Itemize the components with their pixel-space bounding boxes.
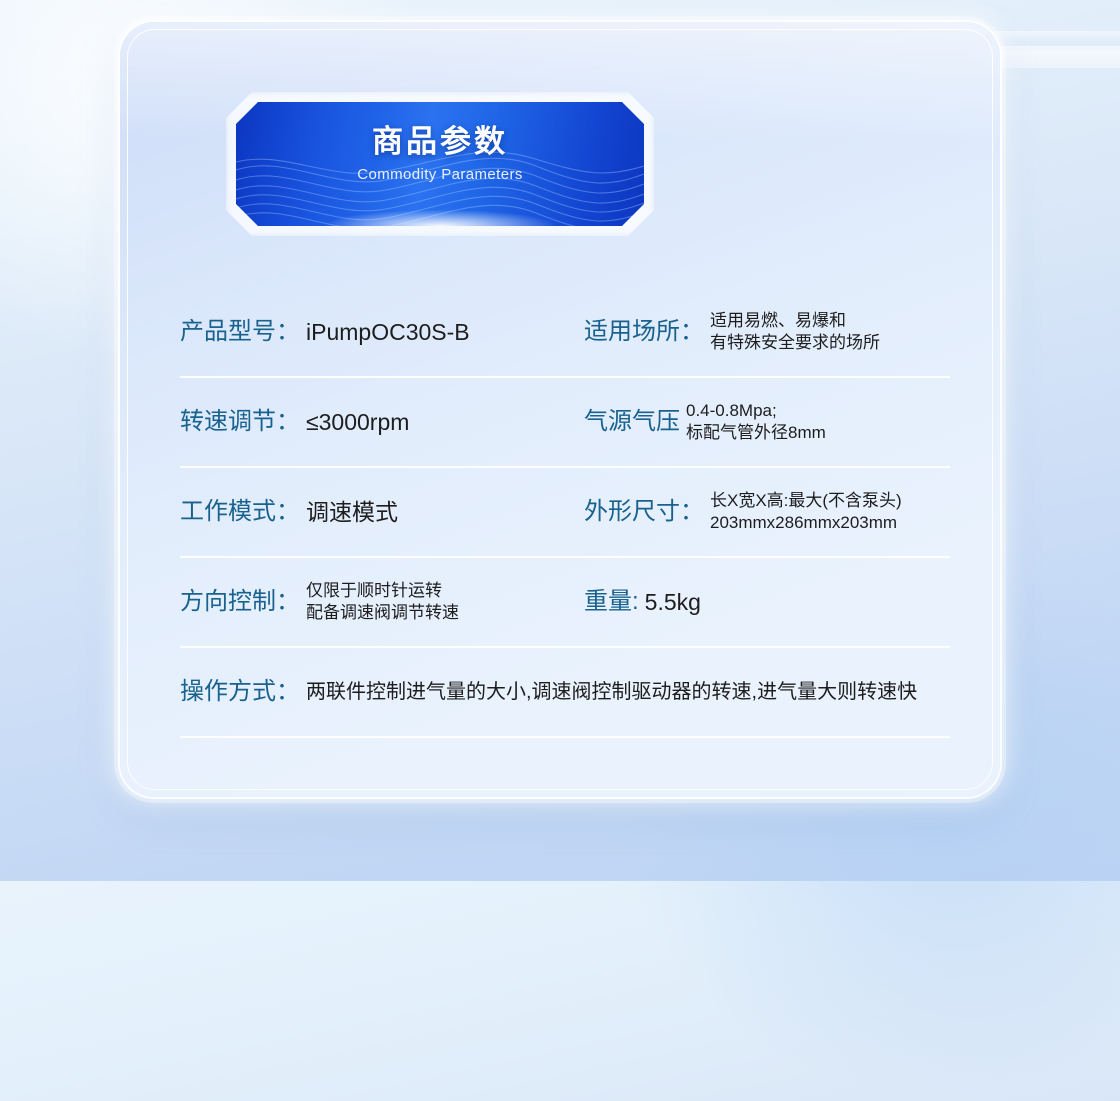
spec-label: 方向控制： [180, 587, 300, 617]
spec-value-line: 标配气管外径8mm [686, 422, 826, 444]
spec-label: 工作模式： [180, 497, 300, 527]
specification-list: 产品型号：iPumpOC30S-B适用场所：适用易燃、易爆和有特殊安全要求的场所… [180, 288, 950, 738]
spec-label: 重量: [584, 587, 639, 617]
spec-row: 方向控制：仅限于顺时针运转配备调速阀调节转速重量:5.5kg [180, 558, 950, 648]
banner-plate: 商品参数 Commodity Parameters [236, 102, 644, 226]
spec-cell-right-2: 外形尺寸：长X宽X高:最大(不含泵头)203mmx286mmx203mm [584, 468, 950, 556]
spec-value: 5.5kg [645, 587, 701, 617]
spec-cell-left-3: 方向控制：仅限于顺时针运转配备调速阀调节转速 [180, 558, 584, 646]
banner-text-group: 商品参数 Commodity Parameters [236, 122, 644, 185]
spec-value-line: 配备调速阀调节转速 [306, 602, 459, 624]
spec-cell-left-0: 产品型号：iPumpOC30S-B [180, 288, 584, 376]
spec-row: 转速调节：≤3000rpm气源气压0.4-0.8Mpa;标配气管外径8mm [180, 378, 950, 468]
spec-cell-right-0: 适用场所：适用易燃、易爆和有特殊安全要求的场所 [584, 288, 950, 376]
spec-value-line: 0.4-0.8Mpa; [686, 400, 826, 422]
spec-value: 调速模式 [306, 497, 398, 527]
spec-label: 气源气压 [584, 407, 680, 437]
spec-cell-left-1: 转速调节：≤3000rpm [180, 378, 584, 466]
spec-label: 操作方式： [180, 677, 300, 707]
banner-title-chinese: 商品参数 [236, 122, 644, 162]
spec-row: 操作方式：两联件控制进气量的大小,调速阀控制驱动器的转速,进气量大则转速快 [180, 648, 950, 738]
spec-cell-right-1: 气源气压0.4-0.8Mpa;标配气管外径8mm [584, 378, 950, 466]
spec-value: 长X宽X高:最大(不含泵头)203mmx286mmx203mm [710, 490, 902, 534]
spec-value: 仅限于顺时针运转配备调速阀调节转速 [306, 580, 459, 624]
spec-label: 转速调节： [180, 407, 300, 437]
spec-row: 工作模式：调速模式外形尺寸：长X宽X高:最大(不含泵头)203mmx286mmx… [180, 468, 950, 558]
section-banner: 商品参数 Commodity Parameters [236, 102, 644, 226]
spec-label: 外形尺寸： [584, 497, 704, 527]
spec-value: 0.4-0.8Mpa;标配气管外径8mm [686, 400, 826, 444]
spec-label: 产品型号： [180, 317, 300, 347]
spec-value-line: 203mmx286mmx203mm [710, 512, 902, 534]
spec-cell-left-2: 工作模式：调速模式 [180, 468, 584, 556]
spec-value: ≤3000rpm [306, 407, 409, 437]
banner-bottom-glow [325, 210, 555, 226]
spec-cell-right-3: 重量:5.5kg [584, 558, 950, 646]
spec-value-line: iPumpOC30S-B [306, 319, 470, 345]
banner-title-english: Commodity Parameters [236, 165, 644, 185]
spec-value-line: 仅限于顺时针运转 [306, 580, 459, 602]
spec-value: 适用易燃、易爆和有特殊安全要求的场所 [710, 310, 880, 354]
spec-value-line: 长X宽X高:最大(不含泵头) [710, 490, 902, 512]
spec-value-line: 适用易燃、易爆和 [710, 310, 880, 332]
spec-value-line: 5.5kg [645, 589, 701, 615]
spec-value-line: ≤3000rpm [306, 409, 409, 435]
spec-value-line: 两联件控制进气量的大小,调速阀控制驱动器的转速,进气量大则转速快 [306, 681, 917, 703]
spec-value: 两联件控制进气量的大小,调速阀控制驱动器的转速,进气量大则转速快 [306, 677, 917, 707]
spec-row: 产品型号：iPumpOC30S-B适用场所：适用易燃、易爆和有特殊安全要求的场所 [180, 288, 950, 378]
spec-value-line: 调速模式 [306, 499, 398, 525]
spec-value-line: 有特殊安全要求的场所 [710, 332, 880, 354]
spec-label: 适用场所： [584, 317, 704, 347]
spec-value: iPumpOC30S-B [306, 317, 470, 347]
spec-cell-full: 操作方式：两联件控制进气量的大小,调速阀控制驱动器的转速,进气量大则转速快 [180, 648, 950, 736]
